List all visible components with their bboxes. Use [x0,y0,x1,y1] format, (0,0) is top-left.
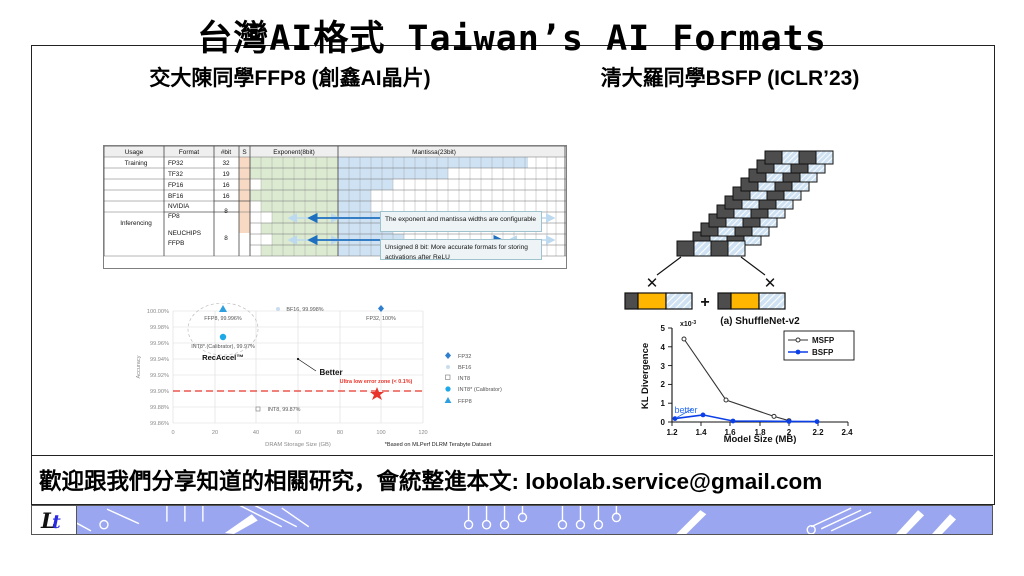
multiply-icon-left: ✕ [646,275,659,292]
svg-text:BF16, 99.998%: BF16, 99.998% [286,307,323,313]
kl-ylabel: KL Divergence [640,343,651,409]
svg-text:BF16: BF16 [168,193,184,200]
page-title: 台灣AI格式 Taiwan’s AI Formats [0,10,1024,61]
svg-text:99.98%: 99.98% [150,325,169,331]
kl-svg: 0 1 2 3 4 5 x10-3 KL Divergence 1.2 [636,314,858,451]
scatter-xlabel: DRAM Storage Size (GB) [265,442,331,448]
bsfp-svg: ✕ ✕ + [615,142,865,312]
svg-text:100: 100 [376,430,385,436]
svg-text:FP32, 100%: FP32, 100% [366,316,396,322]
svg-text:80: 80 [337,430,343,436]
threshold-star-marker [370,387,384,400]
footer-decorative-band [77,506,992,534]
svg-text:20: 20 [212,430,218,436]
scatter-footnote: *Based on MLPerf DLRM Terabyte Dataset [385,442,492,448]
contact-banner-text: 歡迎跟我們分享知道的相關研究，會統整進本文: lobolab.service@g… [31,464,822,496]
svg-text:99.86%: 99.86% [150,421,169,427]
svg-text:Inferencing: Inferencing [120,220,152,227]
svg-text:FFP8: FFP8 [458,399,472,405]
svg-text:Format: Format [179,149,199,156]
kl-title: (a) ShuffleNet-v2 [720,316,800,327]
section-title-ffp8: 交大陳同學FFP8 (創鑫AI晶片) [90,62,490,92]
svg-text:32: 32 [222,160,230,167]
svg-text:BF16: BF16 [458,365,471,371]
kl-better-label: better [674,405,697,415]
svg-text:FP8: FP8 [168,213,180,220]
svg-text:0: 0 [661,418,666,427]
svg-text:99.96%: 99.96% [150,341,169,347]
footer-logo: L t [32,506,77,534]
svg-text:FP32: FP32 [168,160,184,167]
slide-canvas: 台灣AI格式 Taiwan’s AI Formats 交大陳同學FFP8 (創鑫… [0,0,1024,576]
svg-text:2: 2 [661,380,666,389]
accuracy-scatter-chart: 100.00% 99.98% 99.96% 99.94% 99.92% 99.9… [128,303,568,455]
svg-text:1: 1 [661,399,666,408]
svg-text:60: 60 [295,430,301,436]
svg-text:FP16: FP16 [168,182,184,189]
svg-text:INT8: INT8 [458,376,470,382]
contact-banner: 歡迎跟我們分享知道的相關研究，會統整進本文: lobolab.service@g… [31,455,993,503]
svg-text:S: S [242,149,246,156]
point-bf16 [276,307,280,311]
bsfp-diagram: ✕ ✕ + [615,142,865,312]
svg-text:Usage: Usage [125,149,144,156]
svg-text:99.92%: 99.92% [150,373,169,379]
point-int8 [256,407,260,411]
plus-icon: + [700,294,709,311]
point-int8-calibrator [220,334,226,340]
svg-text:FFPB: FFPB [168,240,184,247]
section-title-bsfp: 清大羅同學BSFP (ICLR’23) [530,62,930,92]
svg-text:19: 19 [222,171,230,178]
svg-text:40: 40 [253,430,259,436]
callout-unsigned8: Unsigned 8 bit: More accurate formats fo… [380,239,542,260]
footer-pattern [77,506,992,534]
svg-text:16: 16 [222,193,230,200]
kl-divergence-chart: 0 1 2 3 4 5 x10-3 KL Divergence 1.2 [636,314,858,451]
svg-text:2.2: 2.2 [812,428,824,437]
scatter-svg: 100.00% 99.98% 99.96% 99.94% 99.92% 99.9… [128,303,568,455]
svg-text:1.4: 1.4 [695,428,707,437]
svg-text:5: 5 [661,324,666,333]
svg-text:NVIDIA: NVIDIA [168,203,190,210]
footer-bar: L t [31,505,993,535]
better-label: Better [319,368,342,377]
multiply-icon-right: ✕ [764,275,777,292]
svg-text:120: 120 [418,430,427,436]
svg-text:INT8, 99.87%: INT8, 99.87% [268,407,301,413]
svg-text:2.4: 2.4 [841,428,853,437]
svg-text:FFP8, 99.996%: FFP8, 99.996% [204,316,242,322]
recaccel-label: RecAccel™ [202,353,244,362]
svg-text:BSFP: BSFP [812,348,834,357]
svg-text:#bit: #bit [221,149,232,156]
svg-text:1.2: 1.2 [666,428,678,437]
svg-text:INT8*.(Calibrator), 99.97%: INT8*.(Calibrator), 99.97% [191,344,255,350]
svg-text:99.88%: 99.88% [150,405,169,411]
svg-text:Training: Training [125,160,148,167]
scatter-legend: FP32 BF16 INT8 INT8* (Calibrator) FFP8 [445,352,502,405]
point-ffp8 [219,305,227,312]
svg-text:NEUCHIPS: NEUCHIPS [168,230,201,237]
svg-text:INT8* (Calibrator): INT8* (Calibrator) [458,387,502,393]
svg-text:99.94%: 99.94% [150,357,169,363]
ultra-low-error-label: Ultra low error zone (< 0.1%) [340,379,413,385]
svg-text:8: 8 [224,208,228,215]
svg-text:100.00%: 100.00% [147,309,169,315]
kl-legend: MSFP BSFP [784,331,854,360]
svg-text:TF32: TF32 [168,171,183,178]
svg-text:MSFP: MSFP [812,336,835,345]
kl-xlabel: Model Size (MB) [724,434,797,445]
callout-configurable: The exponent and mantissa widths are con… [380,211,542,232]
svg-text:0: 0 [171,430,174,436]
footer-logo-accent: t [52,511,61,533]
svg-text:FP32: FP32 [458,354,471,360]
svg-text:8: 8 [224,235,228,242]
svg-text:3: 3 [661,362,666,371]
svg-text:Exponent(8bit): Exponent(8bit) [273,149,315,156]
svg-text:Mantissa(23bit): Mantissa(23bit) [412,149,456,156]
svg-text:16: 16 [222,182,230,189]
scatter-ylabel: Accuracy [136,355,142,378]
svg-text:99.90%: 99.90% [150,389,169,395]
svg-text:4: 4 [661,343,666,352]
